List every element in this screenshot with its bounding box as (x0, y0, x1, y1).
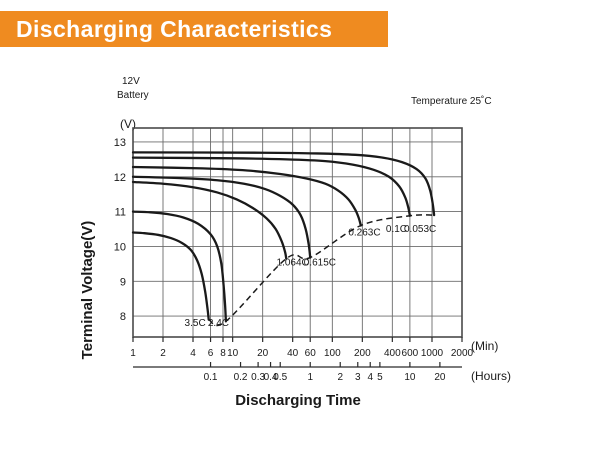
discharge-curve-0_053C (133, 152, 434, 215)
x-axis-ticks-hours: 0.10.20.30.40.5123451020 (133, 362, 462, 383)
x-tick-label-minutes: 60 (305, 348, 317, 359)
x-tick-label-minutes: 8 (220, 348, 226, 359)
x-tick-label-minutes: 1 (130, 348, 136, 359)
page-title: Discharging Characteristics (16, 15, 332, 43)
curve-label-2_4C: 2.4C (208, 318, 229, 329)
x-tick-label-hours: 0.1 (204, 372, 218, 383)
x-axis-unit-hours: (Hours) (471, 369, 511, 383)
y-axis-title: Terminal Voltage(V) (79, 221, 96, 360)
x-tick-label-minutes: 6 (208, 348, 214, 359)
x-tick-label-minutes: 100 (324, 348, 341, 359)
x-tick-label-hours: 20 (434, 372, 446, 383)
temperature-note: Temperature 25˚C (411, 95, 492, 107)
x-tick-label-hours: 0.2 (234, 372, 248, 383)
x-tick-label-hours: 0.5 (273, 372, 287, 383)
y-tick-label: 12 (114, 172, 126, 184)
curve-label-0_053C: 0.053C (404, 224, 436, 235)
x-tick-label-minutes: 4 (190, 348, 196, 359)
y-axis-ticks: 1312111098 (114, 137, 126, 323)
discharge-curve-1_064C (133, 182, 286, 259)
x-tick-label-minutes: 600 (402, 348, 419, 359)
discharge-characteristics-chart: 12V Battery Temperature 25˚C (V) Termina… (0, 55, 600, 451)
battery-note-line1: 12V (122, 76, 140, 87)
curve-label-0_263C: 0.263C (348, 227, 380, 238)
x-tick-label-minutes: 20 (257, 348, 269, 359)
x-axis-unit-minutes: (Min) (471, 339, 498, 353)
x-axis-ticks-minutes: 124681020406010020040060010002000 (130, 337, 473, 359)
x-tick-label-minutes: 10 (227, 348, 239, 359)
x-tick-label-minutes: 1000 (421, 348, 444, 359)
y-tick-label: 13 (114, 137, 126, 149)
discharge-curve-0_263C (133, 167, 361, 226)
x-tick-label-minutes: 2000 (451, 348, 474, 359)
x-tick-label-hours: 10 (404, 372, 416, 383)
y-tick-label: 11 (115, 207, 126, 219)
discharge-curve-3_5C (133, 233, 209, 320)
y-tick-label: 10 (114, 241, 126, 253)
y-tick-label: 9 (120, 276, 126, 288)
x-tick-label-hours: 2 (337, 372, 343, 383)
x-tick-label-minutes: 200 (354, 348, 371, 359)
x-tick-label-minutes: 400 (384, 348, 401, 359)
x-tick-label-hours: 3 (355, 372, 361, 383)
x-tick-label-hours: 1 (307, 372, 313, 383)
x-tick-label-hours: 5 (377, 372, 383, 383)
discharge-curves (133, 152, 434, 321)
discharge-curve-2_4C (133, 212, 226, 322)
y-tick-label: 8 (120, 311, 126, 323)
chart-svg: 12V Battery Temperature 25˚C (V) Termina… (0, 55, 600, 451)
discharge-curve-0_1C (133, 158, 410, 216)
x-axis-title: Discharging Time (235, 392, 361, 409)
battery-note-line2: Battery (117, 90, 149, 101)
curve-label-0_615C: 0.615C (304, 258, 336, 269)
x-tick-label-hours: 4 (367, 372, 373, 383)
x-tick-label-minutes: 40 (287, 348, 299, 359)
x-tick-label-minutes: 2 (160, 348, 166, 359)
curve-label-3_5C: 3.5C (185, 318, 206, 329)
